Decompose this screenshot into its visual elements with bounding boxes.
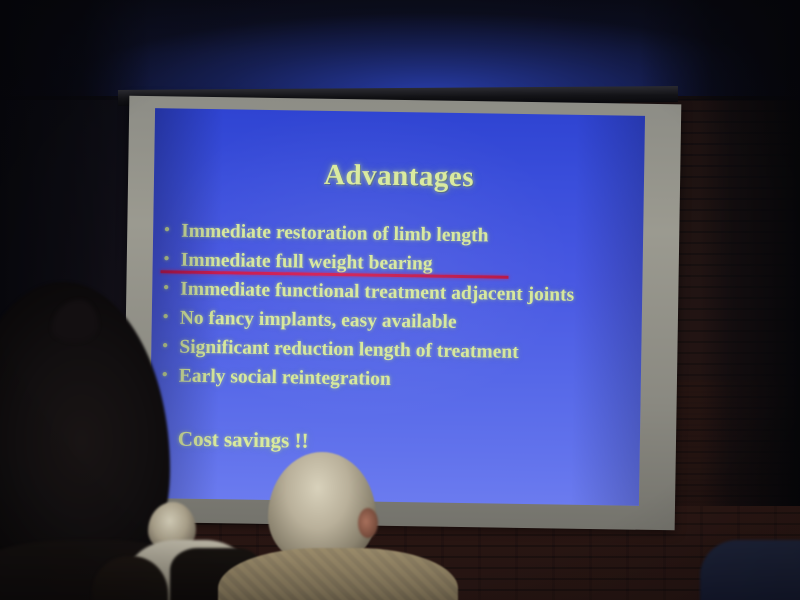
bullet-item: Early social reintegration [159, 361, 639, 398]
slide-bullet-list: Immediate restoration of limb length Imm… [159, 216, 642, 398]
ceiling-shadow-left [0, 0, 150, 100]
presentation-slide: Advantages Immediate restoration of limb… [149, 108, 645, 506]
wall-shadow-left [0, 86, 130, 506]
slide-closing-line: Cost savings !! [178, 427, 309, 454]
conference-photo: Advantages Immediate restoration of limb… [0, 0, 800, 600]
slide-title: Advantages [154, 156, 644, 197]
wall-shadow-right [700, 86, 800, 506]
ceiling-shadow-right [640, 0, 800, 100]
projection-screen-surface: Advantages Immediate restoration of limb… [149, 108, 645, 506]
